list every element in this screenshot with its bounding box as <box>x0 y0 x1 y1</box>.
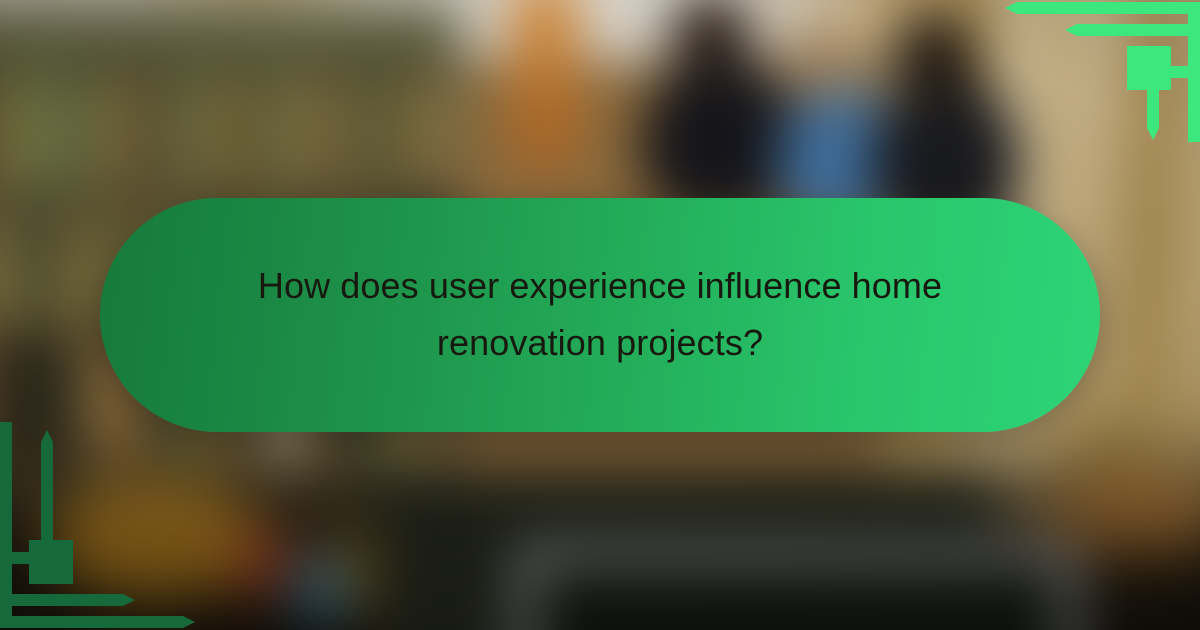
ornament-square-connector <box>9 552 41 564</box>
ornament-tail <box>41 430 53 572</box>
ornament-bar-upper <box>0 616 195 628</box>
ornament-edge-riser <box>0 422 12 628</box>
social-card-canvas: How does user experience influence home … <box>0 0 1200 630</box>
question-text: How does user experience influence home … <box>230 258 970 372</box>
ornament-square-connector <box>1159 66 1191 78</box>
ornament-bar-upper <box>1005 2 1200 14</box>
corner-bracket-bottom-left <box>0 420 205 630</box>
question-card: How does user experience influence home … <box>100 198 1100 432</box>
ornament-bar-lower <box>0 594 135 606</box>
corner-bracket-top-right <box>995 0 1200 142</box>
ornament-bar-lower <box>1065 24 1200 36</box>
ornament-tail <box>1147 58 1159 140</box>
